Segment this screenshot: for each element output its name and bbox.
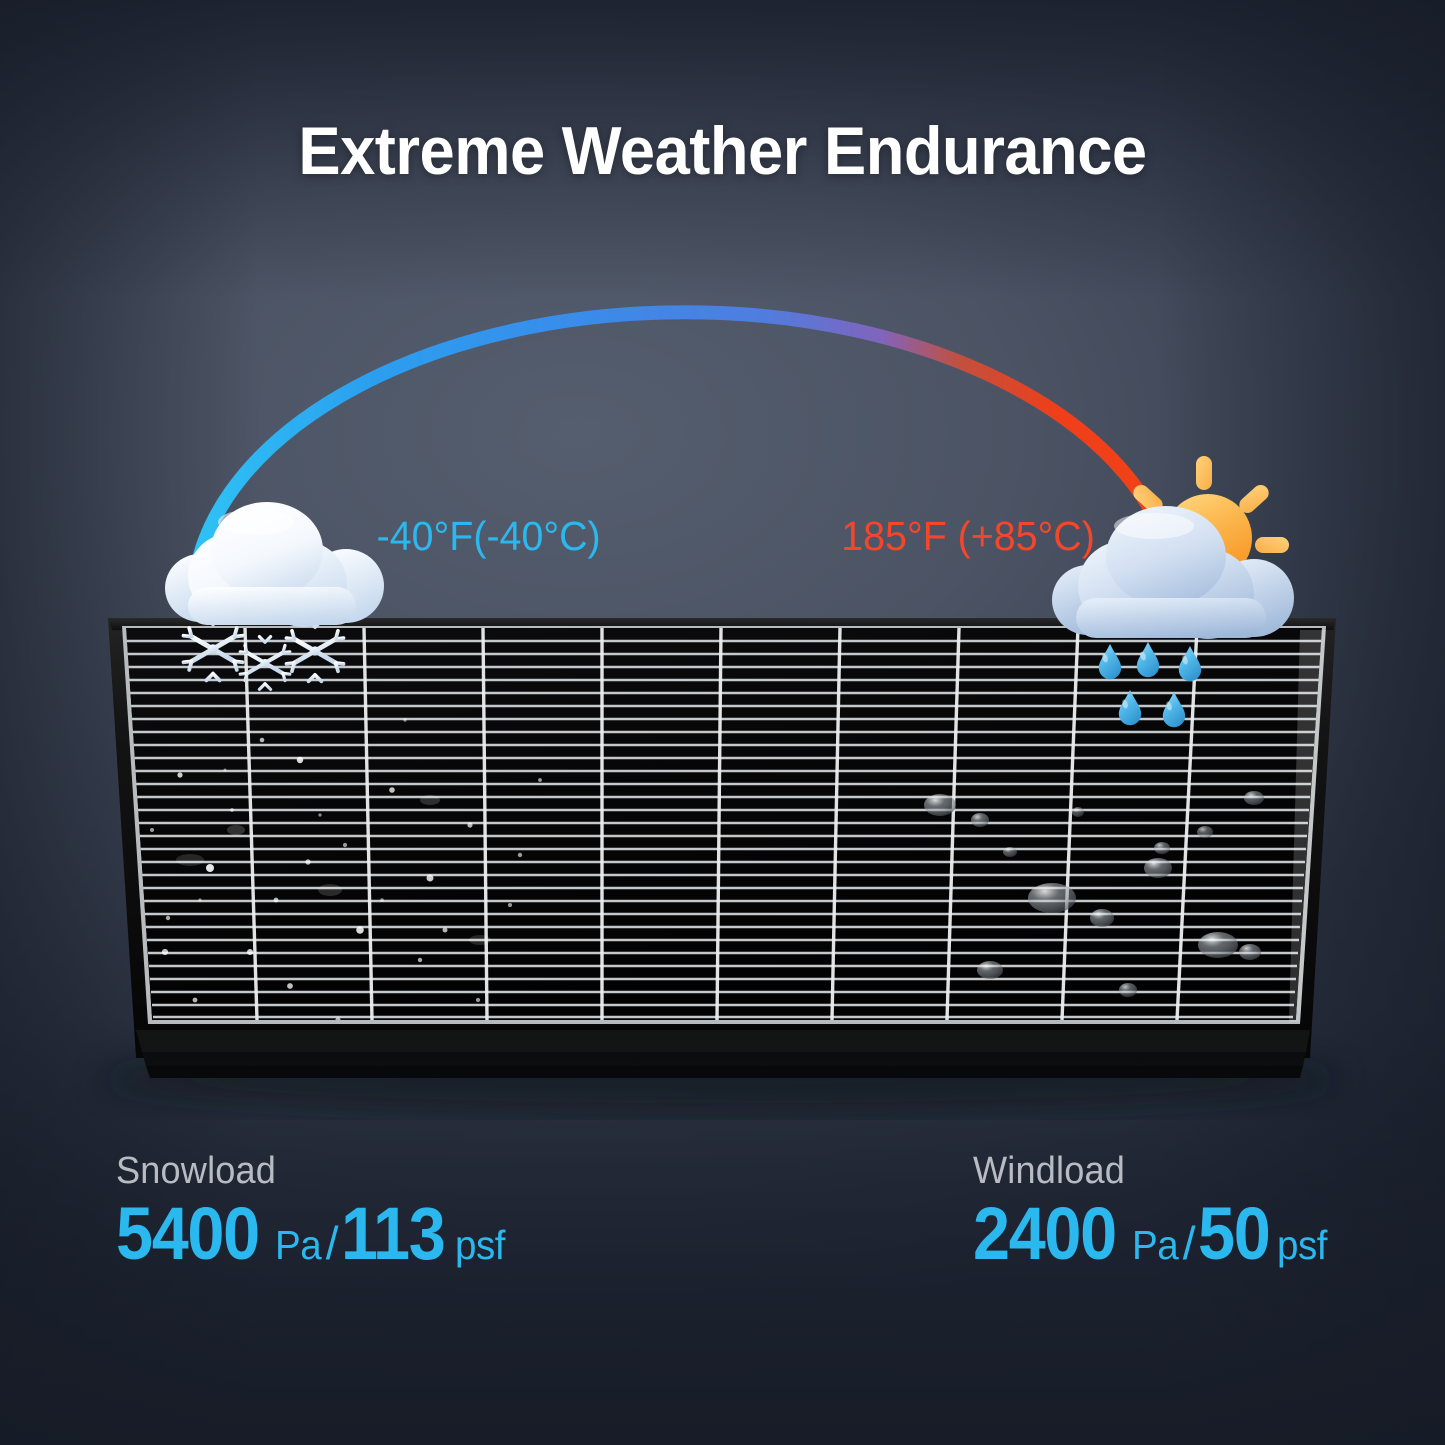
windload-secondary-unit: psf <box>1277 1225 1327 1266</box>
windload-primary-value: 2400 <box>973 1199 1116 1269</box>
hot-temperature-label: 185°F (+85°C) <box>841 513 1095 560</box>
windload-primary-unit: Pa <box>1132 1225 1178 1266</box>
snowload-secondary-value: 113 <box>341 1199 444 1269</box>
windload-stat: Windload 2400 Pa / 50 psf <box>973 1150 1330 1269</box>
snow-cloud-icon <box>160 492 390 642</box>
snowload-value: 5400 Pa / 113 psf <box>116 1199 509 1269</box>
snowload-separator: / <box>324 1220 341 1266</box>
windload-label: Windload <box>973 1150 1312 1193</box>
snowload-label: Snowload <box>116 1150 489 1193</box>
snowload-stat: Snowload 5400 Pa / 113 psf <box>116 1150 509 1269</box>
windload-secondary-value: 50 <box>1198 1199 1269 1269</box>
infographic-canvas: -40°F(-40°C) 185°F (+85°C) Extreme Weath… <box>0 0 1445 1445</box>
snowload-secondary-unit: psf <box>455 1225 505 1266</box>
cold-temperature-label: -40°F(-40°C) <box>377 513 601 560</box>
snowload-primary-value: 5400 <box>116 1199 259 1269</box>
windload-value: 2400 Pa / 50 psf <box>973 1199 1330 1269</box>
page-title: Extreme Weather Endurance <box>51 112 1395 190</box>
snowload-primary-unit: Pa <box>275 1225 321 1266</box>
windload-separator: / <box>1181 1220 1198 1266</box>
